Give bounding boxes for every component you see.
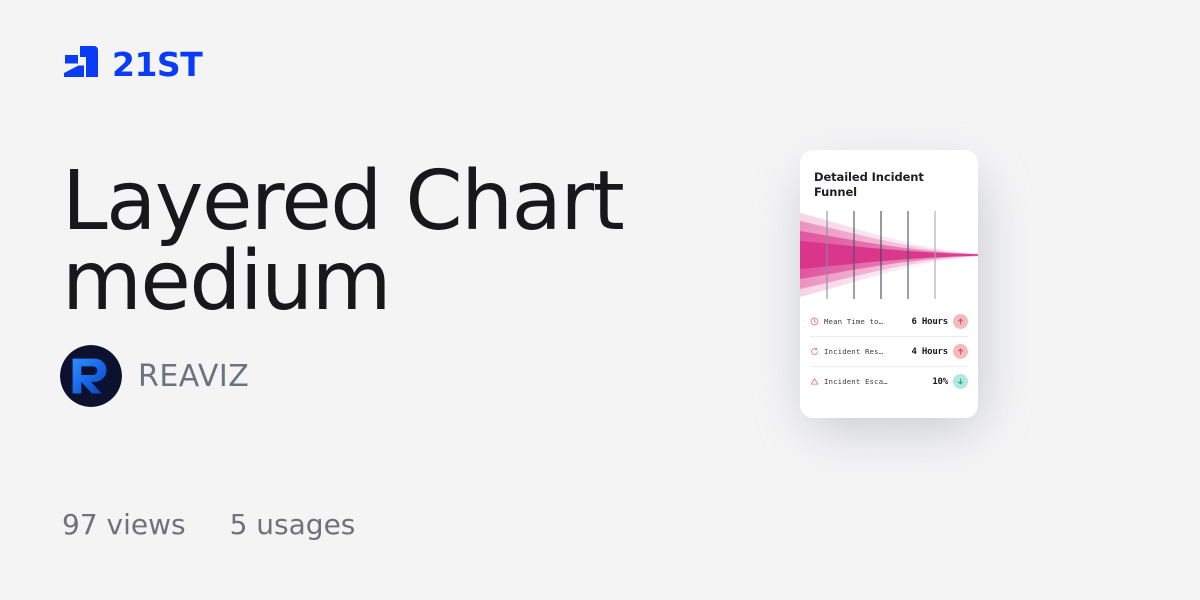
- card-title: Detailed Incident Funnel: [800, 150, 978, 199]
- 21st-logo-mark-icon: [60, 44, 100, 84]
- card-body: Detailed Incident Funnel: [800, 150, 978, 418]
- metrics-list: Mean Time to… 6 Hours Incident Res… 4 Ho…: [800, 307, 978, 396]
- metric-label: Mean Time to…: [824, 317, 906, 326]
- metric-value: 6 Hours: [911, 317, 948, 327]
- views-count: 97 views: [62, 508, 186, 541]
- layered-funnel-chart: [800, 211, 978, 299]
- arrow-down-icon: [953, 374, 968, 389]
- component-preview-card[interactable]: Detailed Incident Funnel: [800, 150, 978, 418]
- metric-label: Incident Res…: [824, 347, 906, 356]
- alert-triangle-icon: [810, 377, 819, 386]
- reaviz-avatar: [60, 345, 122, 407]
- stats-row: 97 views 5 usages: [62, 508, 355, 541]
- clock-icon: [810, 317, 819, 326]
- metric-label: Incident Esca…: [824, 377, 927, 386]
- arrow-up-icon: [953, 344, 968, 359]
- metric-row[interactable]: Mean Time to… 6 Hours: [810, 307, 968, 337]
- metric-value: 10%: [932, 377, 948, 387]
- refresh-icon: [810, 347, 819, 356]
- metric-row[interactable]: Incident Esca… 10%: [810, 367, 968, 396]
- brand-logo[interactable]: 21ST: [60, 44, 202, 84]
- library-link[interactable]: REAVIZ: [60, 345, 249, 407]
- metric-value: 4 Hours: [911, 347, 948, 357]
- usages-count: 5 usages: [230, 508, 356, 541]
- brand-wordmark: 21ST: [112, 48, 202, 81]
- metric-row[interactable]: Incident Res… 4 Hours: [810, 337, 968, 367]
- library-name: REAVIZ: [138, 359, 249, 394]
- page-title: Layered Chart medium: [62, 162, 702, 323]
- arrow-up-icon: [953, 314, 968, 329]
